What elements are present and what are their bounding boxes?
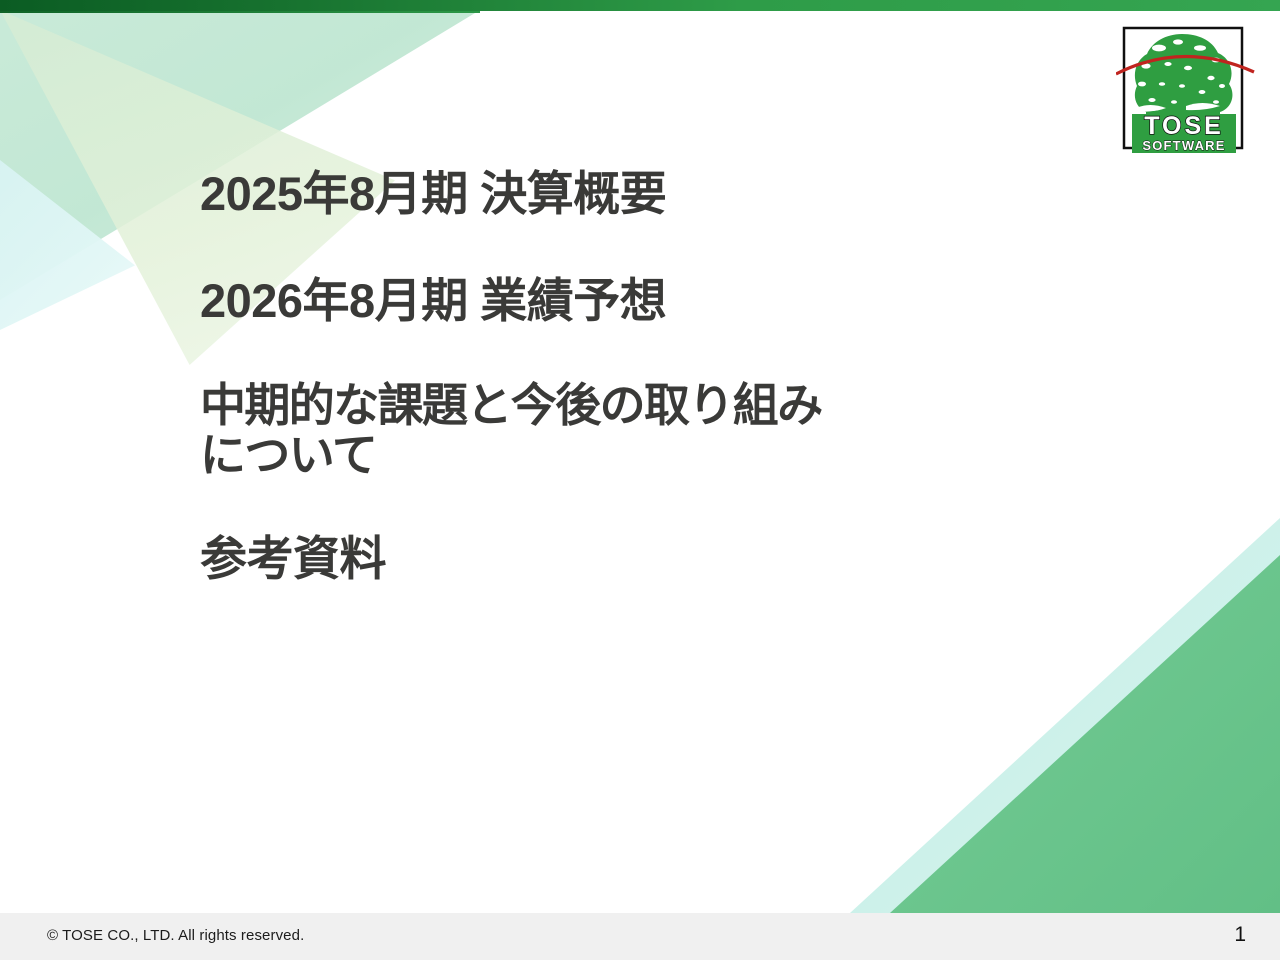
page-number: 1	[1234, 923, 1246, 947]
logo-subbrand-text: SOFTWARE	[1142, 138, 1225, 153]
tose-software-logo: TOSE SOFTWARE	[1116, 22, 1258, 162]
bottom-right-green-triangle	[890, 555, 1280, 913]
agenda-item-3: 中期的な課題と今後の取り組み について	[200, 381, 1140, 480]
agenda-item-4: 参考資料	[200, 533, 1140, 586]
agenda-item-1: 2025年8月期 決算概要	[200, 168, 1140, 221]
copyright-text: © TOSE CO., LTD. All rights reserved.	[47, 927, 304, 944]
top-left-cyan-triangle	[0, 160, 135, 330]
slide-footer: © TOSE CO., LTD. All rights reserved. 1	[0, 913, 1280, 960]
top-accent-bar	[0, 0, 1280, 11]
agenda-item-2: 2026年8月期 業績予想	[200, 275, 1140, 328]
logo-brand-text: TOSE	[1144, 112, 1224, 140]
presentation-slide: TOSE SOFTWARE 2025年8月期 決算概要 2026年8月期 業績予…	[0, 0, 1280, 960]
agenda-list: 2025年8月期 決算概要 2026年8月期 業績予想 中期的な課題と今後の取り…	[200, 168, 1140, 585]
logo-wordmark: TOSE SOFTWARE	[1132, 112, 1236, 153]
